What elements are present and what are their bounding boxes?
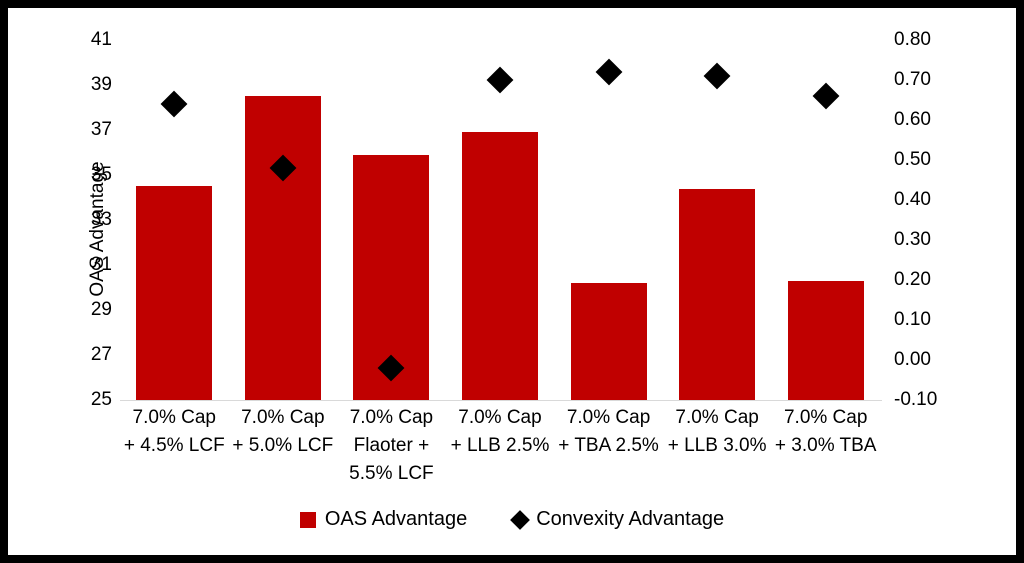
x-axis-label-line: 7.0% Cap <box>771 404 880 432</box>
data-point-marker <box>704 63 731 90</box>
x-axis-label-line: + LLB 2.5% <box>446 432 555 460</box>
bar <box>245 96 321 400</box>
x-axis-label-line: 7.0% Cap <box>229 404 338 432</box>
x-axis-label-line: + 3.0% TBA <box>771 432 880 460</box>
left-axis-tick: 31 <box>91 254 112 276</box>
x-axis-label-line: Flaoter + <box>337 432 446 460</box>
left-axis-tick: 25 <box>91 389 112 411</box>
x-axis-label: 7.0% Cap+ LLB 3.0% <box>663 404 772 460</box>
plot-area <box>120 40 880 400</box>
x-axis-label: 7.0% Cap+ 3.0% TBA <box>771 404 880 460</box>
x-axis-label: 7.0% Cap+ LLB 2.5% <box>446 404 555 460</box>
legend-label: OAS Advantage <box>325 508 467 531</box>
right-axis-tick: -0.10 <box>894 389 937 411</box>
x-axis-line <box>120 400 882 401</box>
data-point-marker <box>812 83 839 110</box>
x-axis-label: 7.0% Cap+ 4.5% LCF <box>120 404 229 460</box>
x-axis-label-line: 7.0% Cap <box>554 404 663 432</box>
left-y-axis: OAS Advantage 252729313335373941 <box>66 40 112 400</box>
bar <box>571 283 647 400</box>
chart-legend: OAS AdvantageConvexity Advantage <box>8 508 1016 531</box>
x-axis-label-line: + TBA 2.5% <box>554 432 663 460</box>
x-axis-category-labels: 7.0% Cap+ 4.5% LCF7.0% Cap+ 5.0% LCF7.0%… <box>120 404 882 498</box>
bar <box>679 189 755 401</box>
x-axis-label: 7.0% Cap+ 5.0% LCF <box>229 404 338 460</box>
right-axis-tick: 0.40 <box>894 189 931 211</box>
chart-figure: OAS Advantage 252729313335373941 -0.100.… <box>8 8 1016 555</box>
right-axis-tick: 0.70 <box>894 69 931 91</box>
data-point-marker <box>161 91 188 118</box>
x-axis-label-line: 5.5% LCF <box>337 460 446 488</box>
left-axis-tick: 37 <box>91 119 112 141</box>
left-axis-tick: 39 <box>91 74 112 96</box>
right-axis-tick: 0.80 <box>894 29 931 51</box>
left-axis-tick: 41 <box>91 29 112 51</box>
x-axis-label-line: 7.0% Cap <box>663 404 772 432</box>
left-axis-tick: 29 <box>91 299 112 321</box>
left-axis-tick: 27 <box>91 344 112 366</box>
x-axis-label-line: + 4.5% LCF <box>120 432 229 460</box>
x-axis-label-line: + LLB 3.0% <box>663 432 772 460</box>
right-axis-tick: 0.20 <box>894 269 931 291</box>
x-axis-label-line: 7.0% Cap <box>120 404 229 432</box>
bar <box>462 132 538 400</box>
right-axis-tick: 0.00 <box>894 349 931 371</box>
legend-item[interactable]: Convexity Advantage <box>513 508 724 531</box>
right-axis-tick: 0.10 <box>894 309 931 331</box>
left-axis-tick: 35 <box>91 164 112 186</box>
right-axis-tick: 0.60 <box>894 109 931 131</box>
data-point-marker <box>595 59 622 86</box>
x-axis-label-line: 7.0% Cap <box>446 404 555 432</box>
legend-label: Convexity Advantage <box>536 508 724 531</box>
legend-item[interactable]: OAS Advantage <box>300 508 467 531</box>
x-axis-label-line: + 5.0% LCF <box>229 432 338 460</box>
bar <box>788 281 864 400</box>
right-axis-tick: 0.50 <box>894 149 931 171</box>
left-axis-tick: 33 <box>91 209 112 231</box>
square-swatch-icon <box>300 512 316 528</box>
bar <box>136 186 212 400</box>
diamond-marker-icon <box>510 510 530 530</box>
x-axis-label: 7.0% Cap+ TBA 2.5% <box>554 404 663 460</box>
x-axis-label: 7.0% CapFlaoter +5.5% LCF <box>337 404 446 488</box>
x-axis-label-line: 7.0% Cap <box>337 404 446 432</box>
right-y-axis: -0.100.000.100.200.300.400.500.600.700.8… <box>894 40 960 400</box>
right-axis-tick: 0.30 <box>894 229 931 251</box>
data-point-marker <box>487 67 514 94</box>
